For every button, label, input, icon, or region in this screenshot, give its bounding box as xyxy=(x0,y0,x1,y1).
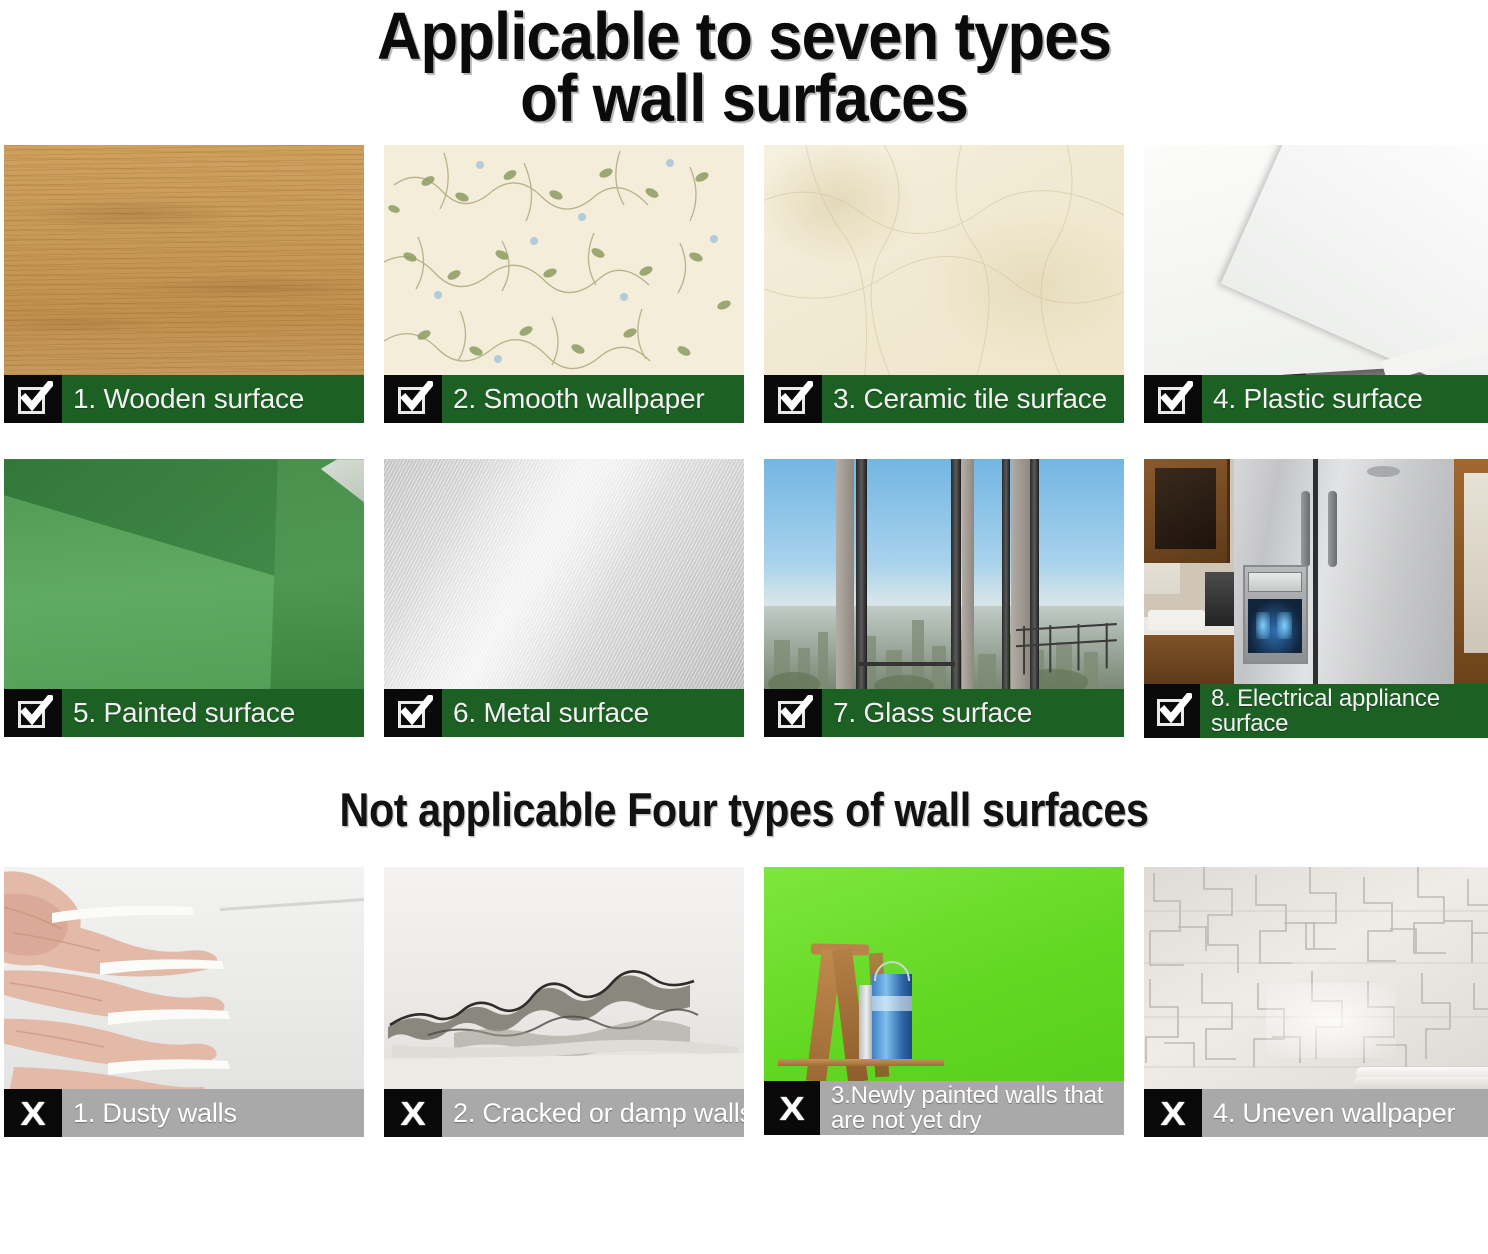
applicable-tile-6: 6. Metal surface xyxy=(384,459,744,738)
checkmark-icon xyxy=(384,375,442,423)
applicable-label-7: 7. Glass surface xyxy=(822,689,1124,737)
applicable-caption-bar-7: 7. Glass surface xyxy=(764,689,1124,737)
checkmark-icon xyxy=(764,375,822,423)
not-applicable-caption-bar-1: X 1. Dusty walls xyxy=(4,1089,364,1137)
x-mark-icon: X xyxy=(4,1089,62,1137)
uneven-wallpaper-photo xyxy=(1144,867,1488,1089)
applicable-caption-bar-6: 6. Metal surface xyxy=(384,689,744,737)
applicable-tile-8: 8. Electrical appliance surface xyxy=(1144,459,1488,738)
applicable-tile-3: 3. Ceramic tile surface xyxy=(764,145,1124,423)
page-title: Applicable to seven types of wall surfac… xyxy=(60,0,1429,129)
checkmark-icon xyxy=(4,375,62,423)
applicable-caption-bar-8: 8. Electrical appliance surface xyxy=(1144,684,1488,738)
applicable-tile-5: 5. Painted surface xyxy=(4,459,364,738)
not-applicable-label-3: 3.Newly painted walls that are not yet d… xyxy=(820,1081,1124,1135)
not-applicable-tile-2: X 2. Cracked or damp walls xyxy=(384,867,744,1137)
not-applicable-tile-4: X 4. Uneven wallpaper xyxy=(1144,867,1488,1137)
x-mark-glyph: X xyxy=(779,1092,804,1125)
x-mark-glyph: X xyxy=(20,1097,45,1130)
dusty-walls-photo xyxy=(4,867,364,1089)
metal-surface-photo xyxy=(384,459,744,689)
applicable-label-8: 8. Electrical appliance surface xyxy=(1200,684,1488,738)
checkmark-icon xyxy=(764,689,822,737)
cracked-or-damp-walls-photo xyxy=(384,867,744,1089)
infographic-page: Applicable to seven types of wall surfac… xyxy=(0,0,1488,1254)
applicable-grid-row-1: 1. Wooden surface xyxy=(0,145,1488,423)
x-mark-glyph: X xyxy=(1160,1097,1185,1130)
applicable-tile-1: 1. Wooden surface xyxy=(4,145,364,423)
applicable-caption-bar-1: 1. Wooden surface xyxy=(4,375,364,423)
not-applicable-label-1: 1. Dusty walls xyxy=(62,1089,364,1137)
applicable-tile-4: 4. Plastic surface xyxy=(1144,145,1488,423)
section-title-not-applicable: Not applicable Four types of wall surfac… xyxy=(89,782,1398,837)
not-applicable-caption-bar-4: X 4. Uneven wallpaper xyxy=(1144,1089,1488,1137)
newly-painted-walls-photo xyxy=(764,867,1124,1081)
applicable-label-1: 1. Wooden surface xyxy=(62,375,364,423)
glass-surface-photo xyxy=(764,459,1124,689)
x-mark-glyph: X xyxy=(400,1097,425,1130)
applicable-tile-7: 7. Glass surface xyxy=(764,459,1124,738)
applicable-label-5: 5. Painted surface xyxy=(62,689,364,737)
applicable-caption-bar-3: 3. Ceramic tile surface xyxy=(764,375,1124,423)
page-title-line2: of wall surfaces xyxy=(60,68,1429,130)
not-applicable-grid: X 1. Dusty walls xyxy=(0,867,1488,1137)
checkmark-icon xyxy=(4,689,62,737)
applicable-label-6: 6. Metal surface xyxy=(442,689,744,737)
wooden-surface-photo xyxy=(4,145,364,375)
ceramic-tile-surface-photo xyxy=(764,145,1124,375)
not-applicable-tile-1: X 1. Dusty walls xyxy=(4,867,364,1137)
applicable-grid-row-2: 5. Painted surface 6. Metal surface xyxy=(0,459,1488,738)
x-mark-icon: X xyxy=(764,1081,820,1135)
not-applicable-tile-3: X 3.Newly painted walls that are not yet… xyxy=(764,867,1124,1137)
applicable-caption-bar-5: 5. Painted surface xyxy=(4,689,364,737)
not-applicable-caption-bar-3: X 3.Newly painted walls that are not yet… xyxy=(764,1081,1124,1135)
applicable-caption-bar-4: 4. Plastic surface xyxy=(1144,375,1488,423)
not-applicable-caption-bar-2: X 2. Cracked or damp walls xyxy=(384,1089,744,1137)
plastic-surface-photo xyxy=(1144,145,1488,375)
checkmark-icon xyxy=(1144,684,1200,738)
applicable-tile-2: 2. Smooth wallpaper xyxy=(384,145,744,423)
applicable-label-4: 4. Plastic surface xyxy=(1202,375,1488,423)
painted-surface-photo xyxy=(4,459,364,689)
checkmark-icon xyxy=(384,689,442,737)
x-mark-icon: X xyxy=(384,1089,442,1137)
not-applicable-label-2: 2. Cracked or damp walls xyxy=(442,1089,744,1137)
x-mark-icon: X xyxy=(1144,1089,1202,1137)
electrical-appliance-surface-photo xyxy=(1144,459,1488,684)
applicable-label-2: 2. Smooth wallpaper xyxy=(442,375,744,423)
not-applicable-label-4: 4. Uneven wallpaper xyxy=(1202,1089,1488,1137)
applicable-label-3: 3. Ceramic tile surface xyxy=(822,375,1124,423)
smooth-wallpaper-photo xyxy=(384,145,744,375)
checkmark-icon xyxy=(1144,375,1202,423)
applicable-caption-bar-2: 2. Smooth wallpaper xyxy=(384,375,744,423)
